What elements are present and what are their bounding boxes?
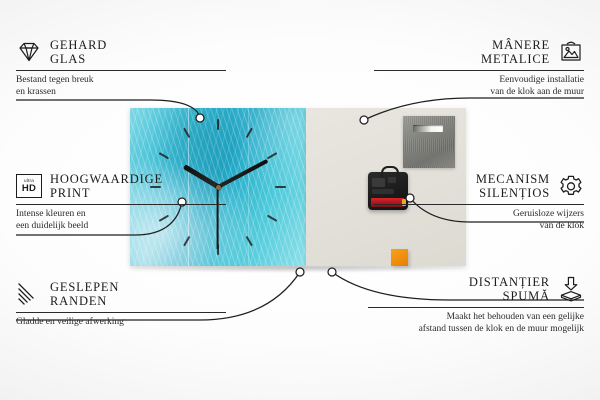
feature-desc-line1: Geruisloze wijzers <box>374 209 584 221</box>
feature-desc-line1: Eenvoudige installatie <box>374 75 584 87</box>
feature-desc-line1: Intense kleuren en <box>16 209 226 221</box>
feature-rule <box>16 312 226 313</box>
feature-desc-line2: en krassen <box>16 87 226 99</box>
feature-title-line2: SILENȚIOS <box>476 186 550 200</box>
feature-desc-line1: Gladde en veilige afwerking <box>16 317 226 329</box>
feature-title-line1: GESLEPEN <box>50 280 119 294</box>
ultra-hd-icon: ultra HD <box>16 173 42 199</box>
gear-icon <box>558 173 584 199</box>
feature-title-line1: GEHARD <box>50 38 107 52</box>
feature-title-line1: MECANISM <box>476 172 550 186</box>
feature-manere-metalice[interactable]: MÂNERE METALICE Eenvoudige installatie v… <box>374 38 584 98</box>
feature-desc-line2: van de klok <box>374 221 584 233</box>
feature-desc-line2: van de klok aan de muur <box>374 87 584 99</box>
feature-title-line2: GLAS <box>50 52 107 66</box>
feature-title-line2: SPUMĂ <box>469 289 550 303</box>
feature-rule <box>368 307 584 308</box>
feature-title-line1: HOOGWAARDIGE <box>50 172 163 186</box>
foam-spacer-icon <box>558 276 584 302</box>
feature-desc-line1: Bestand tegen breuk <box>16 75 226 87</box>
feature-hoogwaardige-print[interactable]: ultra HD HOOGWAARDIGE PRINT Intense kleu… <box>16 172 226 232</box>
infographic-canvas: GEHARD GLAS Bestand tegen breuk en krass… <box>0 0 600 400</box>
feature-title-line2: RANDEN <box>50 294 119 308</box>
feature-rule <box>374 204 584 205</box>
feature-title-line1: MÂNERE <box>481 38 550 52</box>
hanger-keyhole-slot <box>413 125 443 132</box>
ultra-hd-large-text: HD <box>22 184 36 194</box>
picture-frame-hanger-icon <box>558 39 584 65</box>
feature-title-line2: PRINT <box>50 186 163 200</box>
foam-spacer-square <box>391 249 408 266</box>
diamond-icon <box>16 39 42 65</box>
feature-gehard-glas[interactable]: GEHARD GLAS Bestand tegen breuk en krass… <box>16 38 226 98</box>
feature-title-line1: DISTANȚIER <box>469 275 550 289</box>
feature-distantier-spuma[interactable]: DISTANȚIER SPUMĂ Maakt het behouden van … <box>368 275 584 335</box>
metal-hanger-plate <box>403 116 455 168</box>
feature-rule <box>374 70 584 71</box>
feature-geslepen-randen[interactable]: GESLEPEN RANDEN Gladde en veilige afwerk… <box>16 280 226 329</box>
feature-rule <box>16 70 226 71</box>
beveled-edges-icon <box>16 281 42 307</box>
feature-desc-line2: afstand tussen de klok en de muur mogeli… <box>368 324 584 336</box>
feature-title-line2: METALICE <box>481 52 550 66</box>
feature-mecanism-silentios[interactable]: MECANISM SILENȚIOS Geruisloze wijzers va… <box>374 172 584 232</box>
feature-desc-line2: een duidelijk beeld <box>16 221 226 233</box>
feature-desc-line1: Maakt het behouden van een gelijke <box>368 312 584 324</box>
feature-rule <box>16 204 226 205</box>
